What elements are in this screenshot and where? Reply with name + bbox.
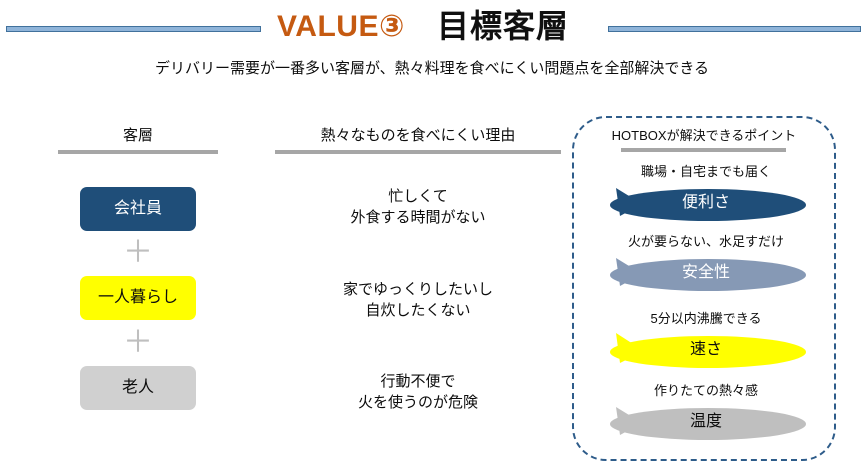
reason-line-2: 自炊したくない xyxy=(275,300,561,321)
reason-line-1: 忙しくて xyxy=(275,186,561,207)
plus-separator-2: ＋ xyxy=(80,328,196,358)
hotbox-point-temperature: 作りたての熱々感 温度 xyxy=(586,382,826,443)
title-rule-right-decoration xyxy=(608,26,861,32)
segment-chip-elderly: 老人 xyxy=(80,366,196,410)
hotbox-point-caption: 作りたての熱々感 xyxy=(586,382,826,400)
hotbox-point-caption: 5分以内沸騰できる xyxy=(586,310,826,328)
subtitle-text: デリバリー需要が一番多い客層が、熱々料理を食べにくい問題点を全部解決できる xyxy=(0,58,864,80)
segment-chip-label: 老人 xyxy=(122,378,154,398)
column-header-reason: 熱々なものを食べにくい理由 xyxy=(275,126,561,146)
speech-bubble-icon: 便利さ xyxy=(586,182,826,224)
column-rule-reason xyxy=(275,150,561,154)
segment-chip-single-household: 一人暮らし xyxy=(80,276,196,320)
reason-item: 忙しくて 外食する時間がない xyxy=(275,186,561,228)
column-header-segment: 客層 xyxy=(58,126,218,146)
hotbox-point-label: 安全性 xyxy=(586,252,826,294)
hotbox-point-speed: 5分以内沸騰できる 速さ xyxy=(586,310,826,371)
segment-chip-label: 会社員 xyxy=(114,199,162,219)
reason-line-1: 行動不便で xyxy=(275,371,561,392)
plus-separator-1: ＋ xyxy=(80,238,196,268)
page-title: 目標客層 xyxy=(437,4,569,48)
title-bar: VALUE③ 目標客層 xyxy=(0,0,864,52)
segment-chip-office-worker: 会社員 xyxy=(80,187,196,231)
reason-line-2: 火を使うのが危険 xyxy=(275,392,561,413)
speech-bubble-icon: 温度 xyxy=(586,401,826,443)
column-rule-segment xyxy=(58,150,218,154)
reason-line-1: 家でゆっくりしたいし xyxy=(275,279,561,300)
reason-item: 家でゆっくりしたいし 自炊したくない xyxy=(275,279,561,321)
hotbox-point-label: 速さ xyxy=(586,329,826,371)
hotbox-point-convenience: 職場・自宅までも届く 便利さ xyxy=(586,163,826,224)
hotbox-point-caption: 火が要らない、水足すだけ xyxy=(586,233,826,251)
speech-bubble-icon: 安全性 xyxy=(586,252,826,294)
hotbox-point-label: 温度 xyxy=(586,401,826,443)
hotbox-point-safety: 火が要らない、水足すだけ 安全性 xyxy=(586,233,826,294)
reason-line-2: 外食する時間がない xyxy=(275,207,561,228)
title-rule-left-decoration xyxy=(6,26,261,32)
speech-bubble-icon: 速さ xyxy=(586,329,826,371)
value-number-label: VALUE③ xyxy=(277,8,405,46)
hotbox-point-label: 便利さ xyxy=(586,182,826,224)
hotbox-point-caption: 職場・自宅までも届く xyxy=(586,163,826,181)
reason-item: 行動不便で 火を使うのが危険 xyxy=(275,371,561,413)
segment-chip-label: 一人暮らし xyxy=(98,288,178,308)
